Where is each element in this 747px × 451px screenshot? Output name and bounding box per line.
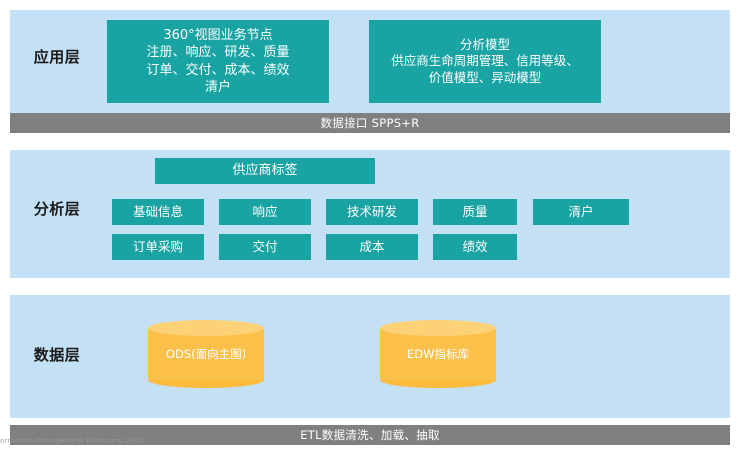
app-box-analysis-model[interactable]: 分析模型 供应商生命周期管理、信用等级、 价值模型、异动模型 [369,20,601,103]
analysis-chip-tech-rnd[interactable]: 技术研发 [326,199,418,225]
analysis-box-supplier-tag[interactable]: 供应商标签 [155,158,375,184]
analysis-chip-clear-account[interactable]: 清户 [533,199,629,225]
footer-watermark: ormation Management Bootcamp 2017 [0,437,144,445]
analysis-chip-order-purchase[interactable]: 订单采购 [112,234,204,260]
data-cylinder-ods-label: ODS(面向主图) [148,320,264,388]
analysis-chip-basic-info[interactable]: 基础信息 [112,199,204,225]
analysis-chip-cost[interactable]: 成本 [326,234,418,260]
analysis-chip-performance[interactable]: 绩效 [433,234,517,260]
layer-label-data: 数据层 [8,348,106,363]
layer-panel-data [10,295,730,418]
architecture-diagram: 应用层 360°视图业务节点 注册、响应、研发、质量 订单、交付、成本、绩效 清… [0,0,747,451]
data-cylinder-ods[interactable]: ODS(面向主图) [148,320,264,388]
analysis-chip-quality[interactable]: 质量 [433,199,517,225]
data-cylinder-edw-label: EDW指标库 [380,320,496,388]
analysis-chip-response[interactable]: 响应 [219,199,311,225]
data-cylinder-edw[interactable]: EDW指标库 [380,320,496,388]
layer-label-analysis: 分析层 [8,202,106,217]
layer-label-application: 应用层 [8,50,106,65]
analysis-chip-delivery[interactable]: 交付 [219,234,311,260]
bar-data-interface: 数据接口 SPPS+R [10,113,730,133]
app-box-360-view[interactable]: 360°视图业务节点 注册、响应、研发、质量 订单、交付、成本、绩效 清户 [107,20,329,103]
